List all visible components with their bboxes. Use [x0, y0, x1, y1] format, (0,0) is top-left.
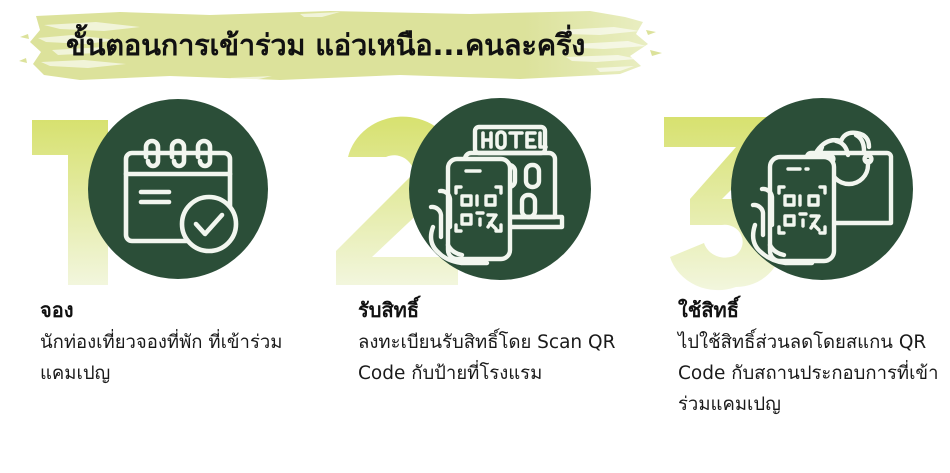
step-1-heading: จอง	[40, 295, 320, 325]
step-3-heading: ใช้สิทธิ์	[678, 295, 950, 325]
steps-row: จอง นักท่องเที่ยวจองที่พัก ที่เข้าร่วมแค…	[0, 95, 950, 473]
step-item-2: รับสิทธิ์ ลงทะเบียนรับสิทธิ์โดย Scan QR …	[330, 95, 640, 473]
page-title: ขั้นตอนการเข้าร่วม แอ่วเหนือ...คนละครึ่ง	[66, 23, 666, 67]
step-1-graphic	[10, 95, 320, 295]
step-1-body: นักท่องเที่ยวจองที่พัก ที่เข้าร่วมแคมเปญ	[40, 327, 320, 389]
step-3-body: ไปใช้สิทธิ์ส่วนลดโดยสแกน QR Code กับสถาน…	[678, 327, 950, 420]
step-item-1: จอง นักท่องเที่ยวจองที่พัก ที่เข้าร่วมแค…	[10, 95, 320, 473]
step-1-text: จอง นักท่องเที่ยวจองที่พัก ที่เข้าร่วมแค…	[40, 295, 320, 389]
title-banner: ขั้นตอนการเข้าร่วม แอ่วเหนือ...คนละครึ่ง	[0, 0, 950, 95]
step-2-heading: รับสิทธิ์	[358, 295, 638, 325]
step-item-3: ใช้สิทธิ์ ไปใช้สิทธิ์ส่วนลดโดยสแกน QR Co…	[650, 95, 950, 473]
step-2-text: รับสิทธิ์ ลงทะเบียนรับสิทธิ์โดย Scan QR …	[358, 295, 638, 389]
step-1-circle	[88, 99, 268, 279]
step-3-graphic	[650, 95, 950, 295]
step-3-text: ใช้สิทธิ์ ไปใช้สิทธิ์ส่วนลดโดยสแกน QR Co…	[678, 295, 950, 420]
step-2-graphic	[330, 95, 640, 295]
step-2-body: ลงทะเบียนรับสิทธิ์โดย Scan QR Code กับป้…	[358, 327, 638, 389]
